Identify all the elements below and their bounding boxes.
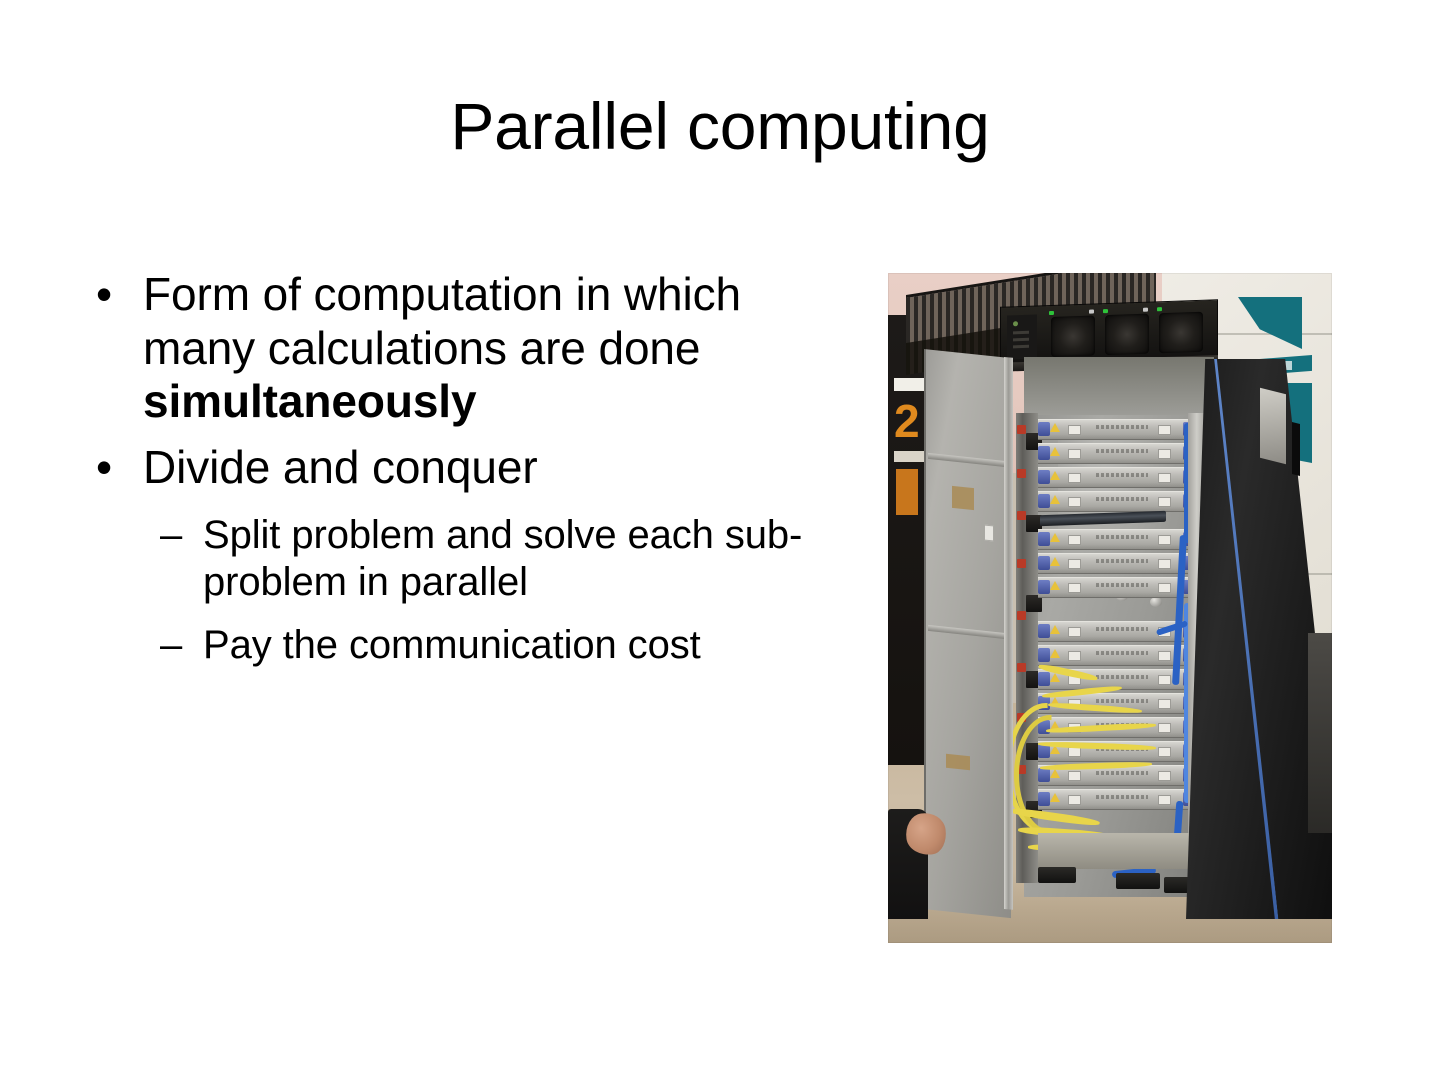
status-led <box>1143 308 1148 312</box>
bullet-item-1: •Form of computation in which many calcu… <box>88 268 818 429</box>
sub-bullet-text-2: Pay the communication cost <box>203 623 701 667</box>
server-blade <box>1038 789 1198 810</box>
sign-label <box>894 378 924 391</box>
bullet-marker-dash: – <box>160 512 182 559</box>
rack-foot <box>1116 873 1160 889</box>
sign-subtext <box>894 451 928 462</box>
rack-foot <box>1038 867 1076 883</box>
server-blade <box>1038 577 1198 598</box>
bullet-marker-dot: • <box>96 441 112 495</box>
rack-base-shelf <box>1038 833 1198 869</box>
latch-indicator <box>1017 611 1026 620</box>
side-panel-window <box>1260 388 1286 464</box>
status-led <box>1089 310 1094 314</box>
latch-indicator <box>1017 511 1026 520</box>
server-blade <box>1038 529 1198 550</box>
server-blade <box>1038 553 1198 574</box>
latch-indicator <box>1017 425 1026 434</box>
rack-interior-top <box>1024 357 1214 415</box>
server-blade <box>1038 443 1198 464</box>
server-blade <box>1038 467 1198 488</box>
door-sticker <box>984 524 994 541</box>
bullet-text-1-emphasis: simultaneously <box>143 375 476 427</box>
fan-blade <box>1105 314 1149 356</box>
sub-bullet-list: –Split problem and solve each sub-proble… <box>88 512 818 668</box>
sign-number: 2 <box>894 401 922 445</box>
page-title: Parallel computing <box>80 92 1360 162</box>
fan-blade <box>1051 315 1095 357</box>
bullet-item-2: •Divide and conquer <box>88 441 818 495</box>
sub-bullet-item-1: –Split problem and solve each sub-proble… <box>88 512 818 606</box>
status-led <box>1157 307 1162 311</box>
status-led <box>1049 311 1054 315</box>
sign-orange-block <box>896 469 918 515</box>
sub-bullet-item-2: –Pay the communication cost <box>88 622 818 669</box>
side-panel-cutout <box>1292 422 1300 476</box>
fan-blade <box>1159 312 1203 354</box>
bullet-marker-dash: – <box>160 622 182 669</box>
latch-indicator <box>1017 559 1026 568</box>
background-equipment <box>1308 633 1332 833</box>
supercomputer-rack-photo: 2 <box>888 273 1332 943</box>
server-blade <box>1038 491 1198 512</box>
status-led <box>1103 309 1108 313</box>
door-edge <box>1004 357 1013 910</box>
bullet-text-2: Divide and conquer <box>143 441 538 493</box>
door-label <box>952 486 974 510</box>
sub-bullet-text-1: Split problem and solve each sub-problem… <box>203 513 802 604</box>
latch-indicator <box>1017 469 1026 478</box>
teal-decor-shape <box>1238 297 1302 349</box>
slide-canvas: Parallel computing •Form of computation … <box>0 0 1440 1080</box>
content-placeholder: •Form of computation in which many calcu… <box>88 268 818 685</box>
bullet-marker-dot: • <box>96 268 112 322</box>
server-blade <box>1038 419 1198 440</box>
door-label <box>946 754 970 771</box>
latch-indicator <box>1017 663 1026 672</box>
bullet-text-1: Form of computation in which many calcul… <box>143 268 741 374</box>
interior-knob <box>1150 597 1162 607</box>
